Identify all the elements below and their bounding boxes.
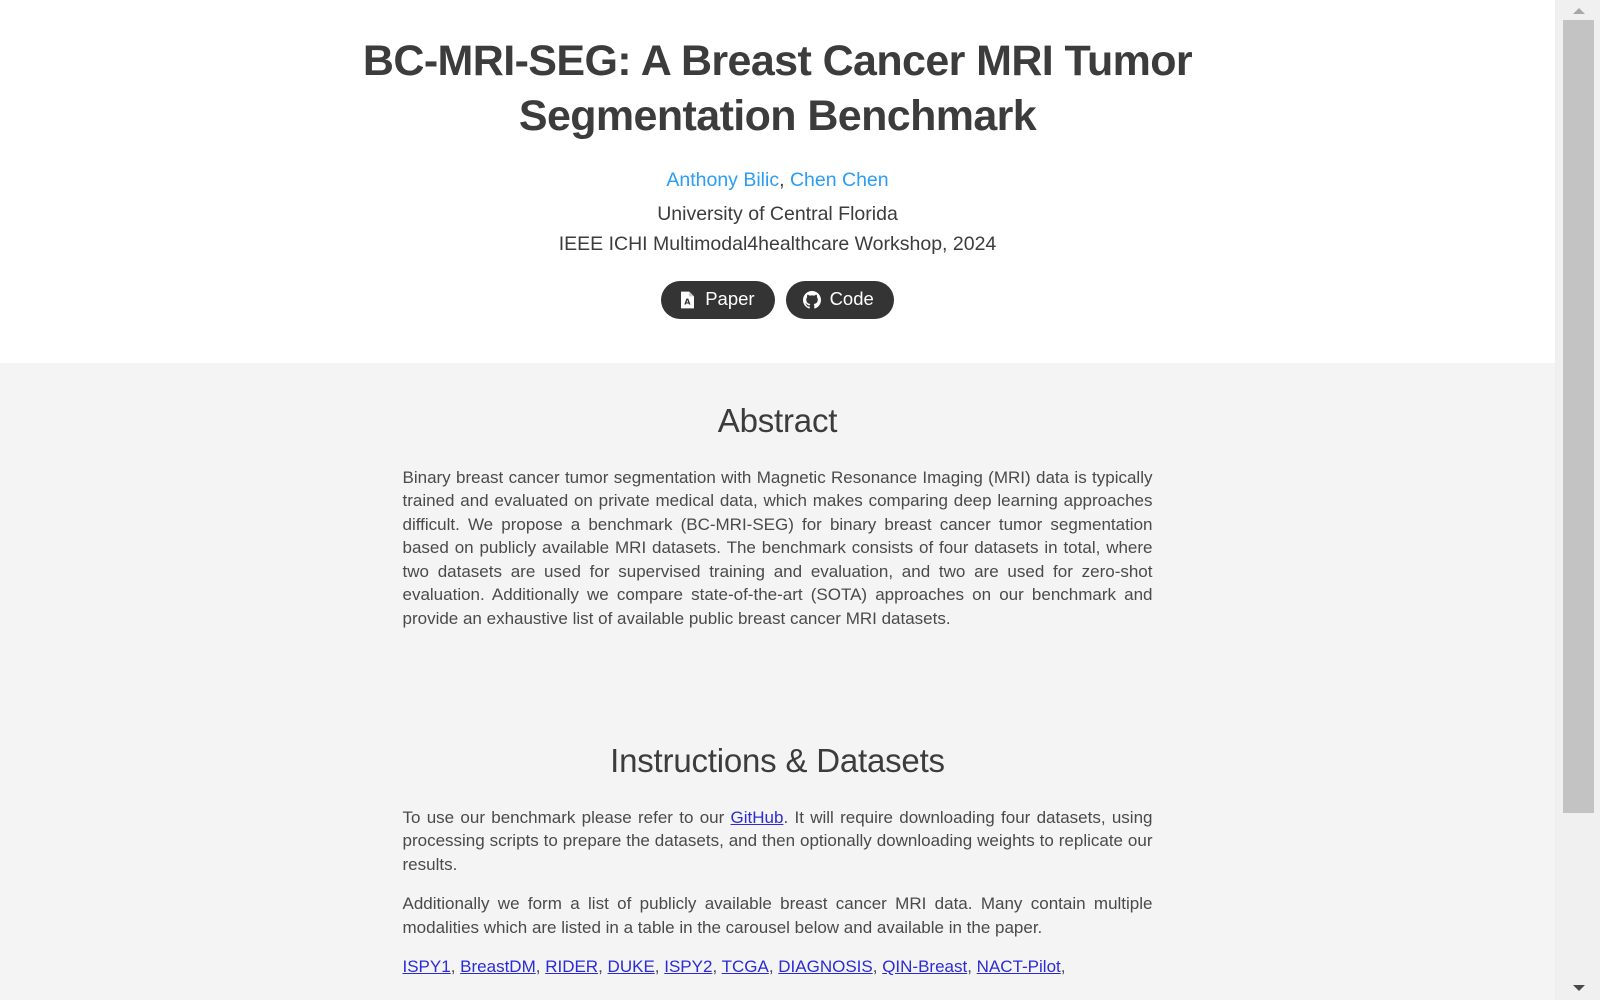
dataset-link-diagnosis[interactable]: DIAGNOSIS (778, 957, 872, 976)
instructions-paragraph-1: To use our benchmark please refer to our… (403, 806, 1153, 876)
code-button[interactable]: Code (786, 281, 894, 319)
pdf-file-icon: A (678, 290, 696, 310)
dataset-link-list: ISPY1, BreastDM, RIDER, DUKE, ISPY2, TCG… (403, 955, 1153, 978)
instructions-text-before-link: To use our benchmark please refer to our (403, 808, 731, 827)
dataset-link-rider[interactable]: RIDER (545, 957, 598, 976)
dataset-link-separator: , (536, 957, 545, 976)
venue: IEEE ICHI Multimodal4healthcare Workshop… (328, 230, 1228, 259)
dataset-link-qin-breast[interactable]: QIN-Breast (882, 957, 967, 976)
github-link[interactable]: GitHub (731, 808, 784, 827)
instructions-paragraph-2: Additionally we form a list of publicly … (403, 892, 1153, 939)
dataset-link-tcga[interactable]: TCGA (722, 957, 769, 976)
dataset-link-separator: , (769, 957, 778, 976)
dataset-link-separator: , (655, 957, 664, 976)
scrollbar-thumb[interactable] (1563, 20, 1594, 813)
author-link-1[interactable]: Anthony Bilic (666, 169, 779, 191)
scroll-down-arrow[interactable] (1563, 979, 1594, 996)
content-sections: Abstract Binary breast cancer tumor segm… (0, 363, 1555, 1000)
author-list: Anthony Bilic, Chen Chen (328, 166, 1228, 194)
abstract-heading: Abstract (403, 364, 1153, 466)
chevron-down-icon (1573, 985, 1585, 991)
dataset-link-trailing: , (1061, 957, 1066, 976)
vertical-scrollbar[interactable] (1555, 0, 1600, 1000)
paper-button-label: Paper (705, 290, 754, 310)
dataset-link-ispy1[interactable]: ISPY1 (403, 957, 451, 976)
project-page: BC-MRI-SEG: A Breast Cancer MRI Tumor Se… (0, 0, 1600, 1000)
hero-button-row: A Paper Code (328, 281, 1228, 319)
author-link-2[interactable]: Chen Chen (790, 169, 889, 191)
instructions-section: Instructions & Datasets To use our bench… (403, 704, 1153, 1000)
affiliation: University of Central Florida (328, 200, 1228, 229)
page-viewport: BC-MRI-SEG: A Breast Cancer MRI Tumor Se… (0, 0, 1555, 1000)
abstract-section: Abstract Binary breast cancer tumor segm… (403, 364, 1153, 704)
svg-text:A: A (684, 297, 691, 306)
dataset-link-separator: , (712, 957, 721, 976)
code-button-label: Code (830, 290, 874, 310)
dataset-link-separator: , (967, 957, 976, 976)
dataset-link-separator: , (451, 957, 460, 976)
dataset-link-breastdm[interactable]: BreastDM (460, 957, 536, 976)
scroll-up-arrow[interactable] (1563, 2, 1594, 19)
hero-header: BC-MRI-SEG: A Breast Cancer MRI Tumor Se… (0, 0, 1555, 363)
dataset-link-nact-pilot[interactable]: NACT-Pilot (977, 957, 1061, 976)
github-icon (803, 290, 821, 310)
abstract-text: Binary breast cancer tumor segmentation … (403, 466, 1153, 630)
instructions-heading: Instructions & Datasets (403, 704, 1153, 806)
dataset-link-separator: , (873, 957, 882, 976)
chevron-up-icon (1573, 8, 1585, 14)
dataset-link-separator: , (598, 957, 607, 976)
dataset-link-ispy2[interactable]: ISPY2 (664, 957, 712, 976)
page-title: BC-MRI-SEG: A Breast Cancer MRI Tumor Se… (328, 34, 1228, 144)
author-separator: , (779, 169, 790, 191)
paper-button[interactable]: A Paper (661, 281, 774, 319)
dataset-link-duke[interactable]: DUKE (608, 957, 655, 976)
